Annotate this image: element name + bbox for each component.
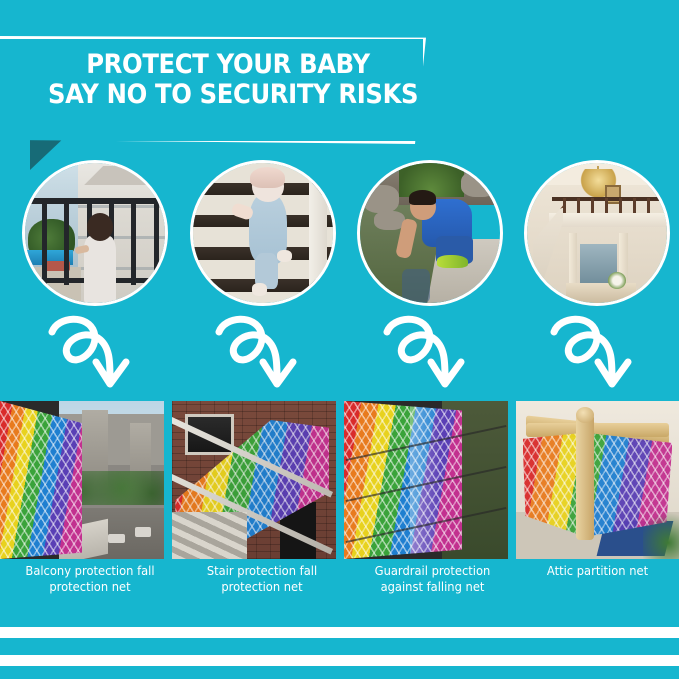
safety-helmet [250, 167, 285, 188]
scene-pond [360, 163, 500, 303]
net-mesh [0, 401, 82, 559]
ground [25, 267, 81, 303]
arrow-row [0, 312, 679, 394]
decorative-stripe-top [0, 627, 679, 638]
boy-hair [409, 190, 436, 205]
parked-car [108, 534, 124, 543]
railing-baluster [42, 198, 47, 285]
loop-arrow-icon [48, 312, 140, 394]
product-photo-attic-net [516, 401, 679, 559]
dining-table [566, 283, 636, 303]
stair-steps [172, 512, 247, 559]
railing-baluster [131, 198, 136, 285]
caption-balcony-net: Balcony protection fall protection net [16, 563, 163, 595]
rainbow-safety-net [0, 401, 82, 559]
decorative-stripe-bottom [0, 655, 679, 666]
caption-line-2: protection net [221, 579, 302, 594]
railing-baluster [563, 198, 566, 215]
toddler-foot [252, 283, 267, 296]
boy-shoe [437, 255, 468, 268]
rock [363, 185, 399, 213]
house-plant [643, 505, 679, 559]
newel-post [576, 414, 594, 540]
caption-guardrail-net: Guardrail protection against falling net [357, 563, 509, 595]
caption-line-1: Attic partition net [547, 563, 648, 578]
caption-row: Balcony protection fall protection net S… [0, 563, 679, 611]
railing-baluster [64, 198, 69, 285]
headline-line-1: PROTECT YOUR BABY [48, 50, 408, 80]
toddler-foot [277, 250, 292, 263]
newel-post [309, 171, 327, 300]
scene-balcony [25, 163, 165, 303]
page-title: PROTECT YOUR BABY SAY NO TO SECURITY RIS… [48, 50, 408, 110]
water-reflection [402, 269, 430, 303]
parked-car [135, 527, 151, 536]
caption-stair-net: Stair protection fall protection net [188, 563, 335, 595]
railing-baluster [591, 198, 594, 215]
problem-photo-loft-interior [524, 160, 670, 306]
problem-photo-stairs-toddler [190, 160, 336, 306]
problem-photo-row [0, 160, 679, 310]
poster-canvas: PROTECT YOUR BABY SAY NO TO SECURITY RIS… [0, 0, 679, 679]
loft-floor [549, 213, 667, 227]
scene-interior [527, 163, 667, 303]
product-photo-stair-net [172, 401, 336, 559]
loop-arrow-icon [550, 312, 642, 394]
problem-photo-pond-boy [357, 160, 503, 306]
scene-stairs [193, 163, 333, 303]
child-body [84, 236, 116, 303]
railing-baluster [577, 198, 580, 215]
loop-arrow-icon [215, 312, 307, 394]
caption-line-2: against falling net [381, 579, 485, 594]
caption-attic-net: Attic partition net [523, 563, 673, 579]
caption-line-1: Balcony protection fall [25, 563, 154, 578]
product-photo-balcony-net [0, 401, 164, 559]
caption-line-2: protection net [49, 579, 130, 594]
problem-photo-balcony-child [22, 160, 168, 306]
caption-line-1: Guardrail protection [375, 563, 491, 578]
railing-baluster [154, 198, 159, 285]
caption-line-1: Stair protection fall [207, 563, 317, 578]
headline-line-2: SAY NO TO SECURITY RISKS [48, 80, 408, 110]
product-photo-guardrail-net [344, 401, 508, 559]
railing-baluster [619, 198, 622, 215]
rock [461, 171, 497, 196]
loop-arrow-icon [383, 312, 475, 394]
railing-baluster [633, 198, 636, 215]
product-photo-row [0, 401, 679, 559]
railing-baluster [605, 198, 608, 215]
railing-baluster [647, 198, 650, 215]
